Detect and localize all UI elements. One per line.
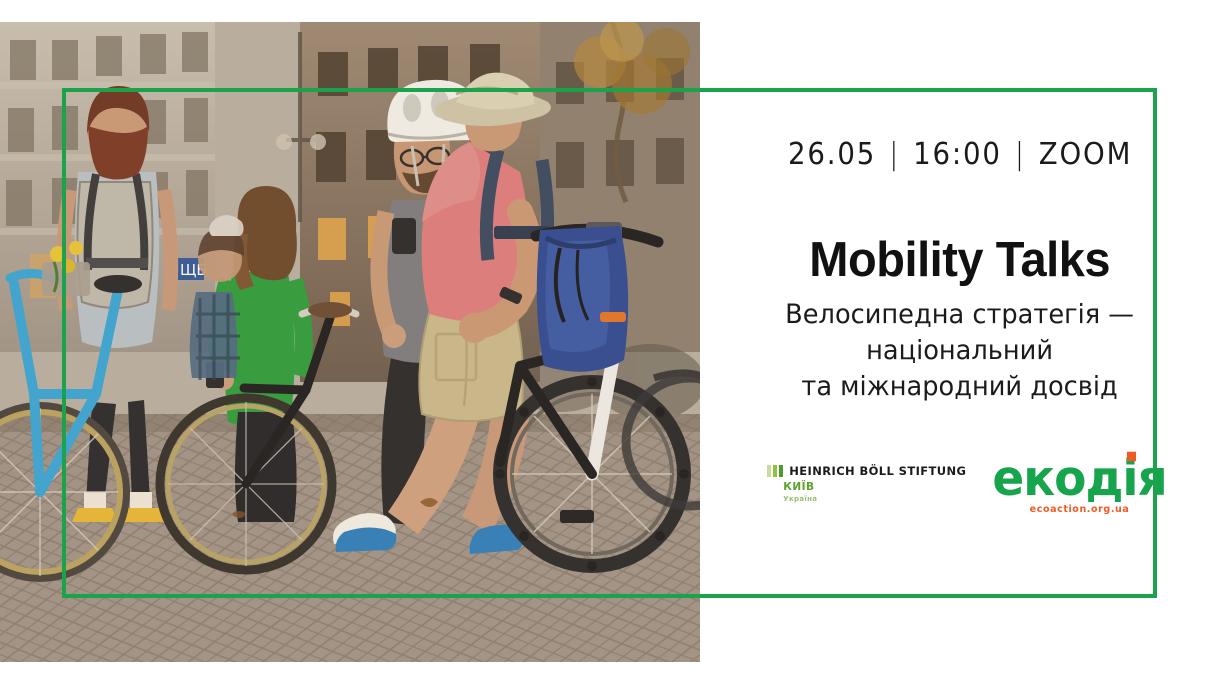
event-subtitle: Велосипедна стратегія — національний та … bbox=[786, 297, 1135, 405]
logo-row: HEINRICH BÖLL STIFTUNG КИЇВ Україна екод… bbox=[700, 455, 1220, 515]
photo-cyclists: ЩБ bbox=[0, 22, 700, 662]
event-date: 26.05 bbox=[788, 137, 876, 172]
subtitle-line-3: та міжнародний досвід bbox=[786, 369, 1135, 405]
meta-separator-2: | bbox=[1015, 137, 1026, 172]
heinrich-boll-stiftung-logo: HEINRICH BÖLL STIFTUNG КИЇВ Україна bbox=[767, 455, 966, 503]
hbs-country: Україна bbox=[783, 495, 966, 503]
ekodiya-wordmark: екодія bbox=[992, 454, 1166, 503]
hbs-name: HEINRICH BÖLL STIFTUNG bbox=[789, 464, 966, 478]
subtitle-line-2: національний bbox=[786, 333, 1135, 369]
subtitle-line-1: Велосипедна стратегія — bbox=[786, 297, 1135, 333]
event-meta: 26.05|16:00|ZOOM bbox=[788, 137, 1132, 172]
hbs-city: КИЇВ bbox=[783, 481, 966, 493]
event-poster: ЩБ bbox=[0, 0, 1220, 686]
ekodiya-dot-icon bbox=[1127, 451, 1136, 460]
ekodiya-word-text: екодія bbox=[992, 449, 1166, 507]
hbs-logo-row: HEINRICH BÖLL STIFTUNG bbox=[767, 464, 966, 478]
page-title: Mobility Talks bbox=[810, 232, 1111, 288]
meta-separator-1: | bbox=[889, 137, 900, 172]
text-panel: 26.05|16:00|ZOOM Mobility Talks Велосипе… bbox=[700, 22, 1220, 662]
hbs-bars-icon bbox=[767, 465, 783, 477]
event-time: 16:00 bbox=[913, 137, 1002, 172]
ekodiya-logo: екодія ecoaction.org.ua bbox=[992, 455, 1166, 515]
event-platform: ZOOM bbox=[1039, 137, 1133, 172]
